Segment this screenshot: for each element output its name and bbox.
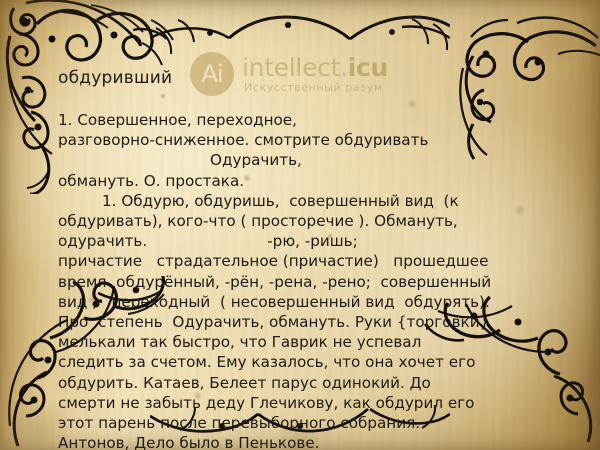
definition-line-text: Одурачить, [210,151,302,169]
definition-line-text: 1. Обдурю, обдуришь, совершенный вид (к [102,192,459,210]
definition-line-text: одурачить. [58,232,147,250]
definition-line: время обдурённый, -рён, -рена, -рено; со… [58,272,546,292]
definition-line: одурачить.-рю, -ришь; [58,231,546,251]
page-title: обдуривший [58,68,172,88]
definition-line: разговорно-сниженное. смотрите обдуриват… [58,130,546,150]
definition-line: обдурить. Катаев, Белеет парус одинокий.… [58,373,546,393]
definition-line: причастие страдательное (причастие) прош… [58,251,546,271]
definition-line: Одурачить, [58,150,546,170]
definition-line: мелькали так быстро, что Гаврик не успев… [58,332,546,352]
definition-line: Про степень Одурачить, обмануть. Руки {т… [58,312,546,332]
definition-line: обдуривать), кого-что ( просторечие ). О… [58,211,546,231]
definition-line-text-2: -рю, -ришь; [267,232,358,250]
definition-line: 1. Обдурю, обдуришь, совершенный вид (к [58,191,546,211]
definition-line: смерти не забыть деду Глечикову, как обд… [58,393,546,413]
definition-line: вид , переходный ( несовершенный вид обд… [58,292,546,312]
definition-line: обмануть. О. простака. [58,171,546,191]
definition-body: 1. Совершенное, переходное, разговорно-с… [58,110,546,450]
dictionary-content: обдуривший 1. Совершенное, переходное, р… [0,0,600,450]
definition-line: 1. Совершенное, переходное, [58,110,546,130]
dictionary-slide: Ai intellect.icu Искусственный разум обд… [0,0,600,450]
definition-line: следить за счетом. Ему казалось, что она… [58,352,546,372]
definition-line: этот парень после перевыборного собрания… [58,413,546,433]
definition-line: Антонов, Дело было в Пенькове. [58,433,546,450]
